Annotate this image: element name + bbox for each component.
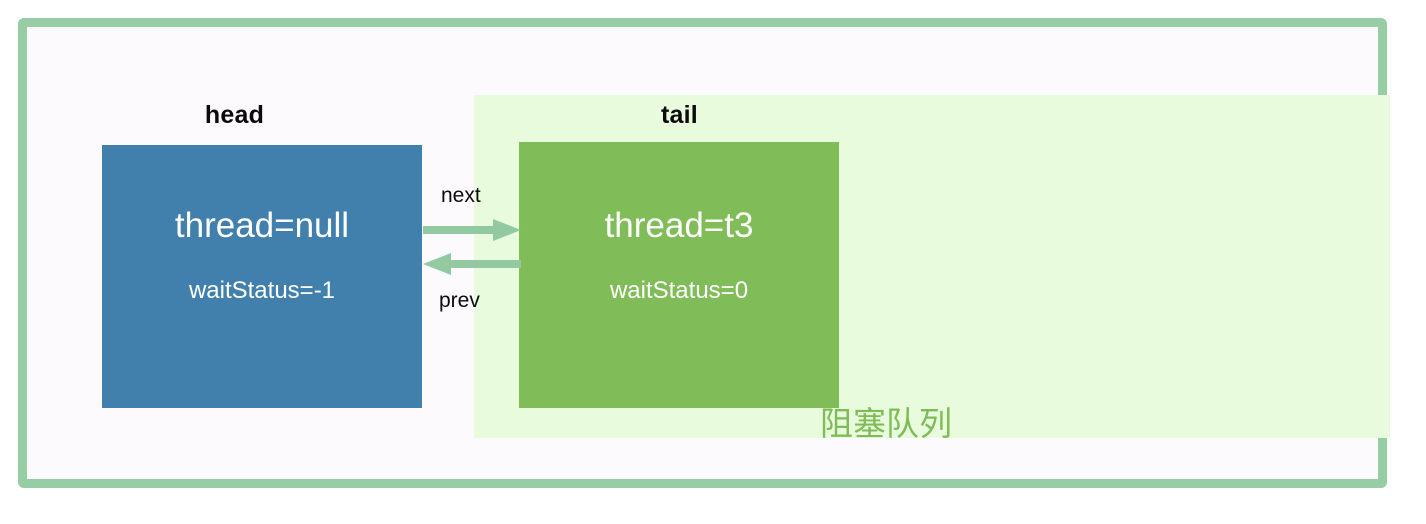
blocking-queue-caption: 阻塞队列 xyxy=(820,407,952,440)
diagram-canvas: head thread=null waitStatus=-1 tail thre… xyxy=(0,0,1426,524)
head-node-box[interactable]: thread=null waitStatus=-1 xyxy=(102,145,422,408)
tail-node-waitstatus-text: waitStatus=0 xyxy=(610,279,748,303)
head-node-label: head xyxy=(167,101,302,130)
next-arrow-icon xyxy=(423,219,521,241)
tail-node-thread-text: thread=t3 xyxy=(605,208,754,243)
head-node-thread-text: thread=null xyxy=(175,208,349,243)
head-node-waitstatus-text: waitStatus=-1 xyxy=(189,279,335,303)
next-edge-label: next xyxy=(441,184,481,208)
prev-edge-label: prev xyxy=(439,289,480,313)
prev-arrow-icon xyxy=(423,253,521,275)
tail-node-label: tail xyxy=(612,101,747,130)
tail-node-box[interactable]: thread=t3 waitStatus=0 xyxy=(519,142,839,408)
diagram-outer-frame: head thread=null waitStatus=-1 tail thre… xyxy=(18,18,1387,488)
